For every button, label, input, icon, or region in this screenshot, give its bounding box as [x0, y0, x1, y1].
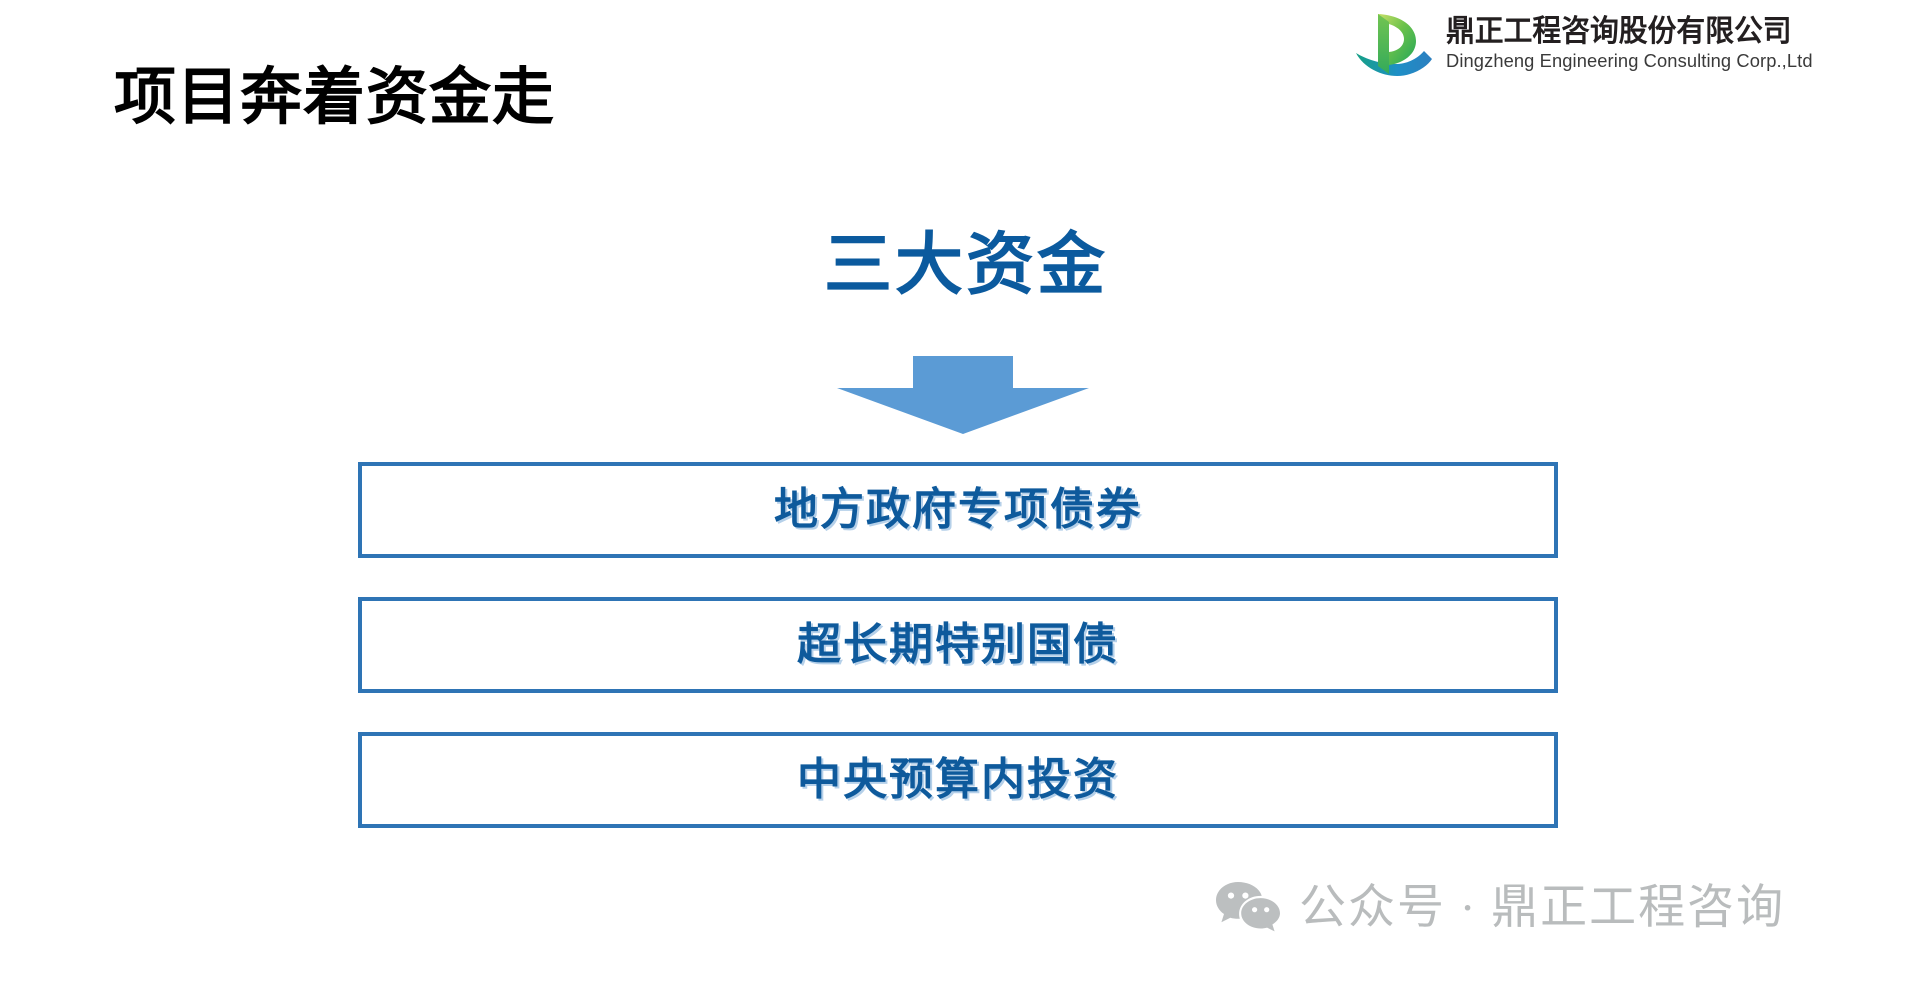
company-name-cn: 鼎正工程咨询股份有限公司 — [1446, 17, 1802, 47]
fund-box-local-government-special-bond[interactable]: 地方政府专项债券 — [358, 462, 1558, 558]
dingzheng-d-mark-icon — [1352, 6, 1436, 82]
down-arrow-icon — [831, 356, 1089, 434]
company-name-en: Dingzheng Engineering Consulting Corp.,L… — [1446, 52, 1813, 71]
fund-label: 地方政府专项债券 — [774, 488, 1142, 532]
watermark-label: 公众号 · 鼎正工程咨询 — [1299, 885, 1785, 932]
wechat-icon — [1215, 880, 1281, 936]
fund-list: 地方政府专项债券 超长期特别国债 中央预算内投资 — [358, 462, 1558, 828]
company-logo: 鼎正工程咨询股份有限公司 Dingzheng Engineering Consu… — [1352, 6, 1816, 82]
wechat-watermark: 公众号 · 鼎正工程咨询 — [1215, 880, 1785, 936]
fund-label: 超长期特别国债 — [797, 623, 1119, 667]
section-heading: 三大资金 — [0, 228, 1920, 303]
fund-box-ultra-long-special-treasury-bond[interactable]: 超长期特别国债 — [358, 597, 1558, 693]
company-logo-text: 鼎正工程咨询股份有限公司 Dingzheng Engineering Consu… — [1446, 17, 1816, 71]
page-title: 项目奔着资金走 — [114, 62, 555, 133]
down-arrow-container — [0, 356, 1920, 434]
fund-box-central-budget-investment[interactable]: 中央预算内投资 — [358, 732, 1558, 828]
fund-label: 中央预算内投资 — [797, 758, 1119, 802]
section-heading-label: 三大资金 — [824, 228, 1108, 303]
